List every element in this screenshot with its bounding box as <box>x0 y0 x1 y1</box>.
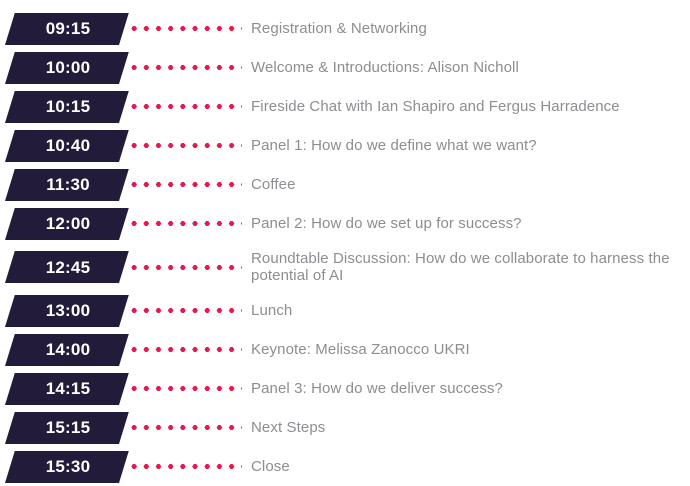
session-description: Roundtable Discussion: How do we collabo… <box>251 250 690 284</box>
time-badge: 10:40 <box>5 130 119 162</box>
agenda-row: 10:40 Panel 1: How do we define what we … <box>0 126 690 165</box>
agenda-row: 10:00 Welcome & Introductions: Alison Ni… <box>0 48 690 87</box>
session-description: Welcome & Introductions: Alison Nicholl <box>251 59 690 76</box>
session-description: Next Steps <box>251 419 690 436</box>
time-label: 10:00 <box>34 59 90 76</box>
time-label: 14:00 <box>34 341 90 358</box>
time-badge: 15:30 <box>5 451 119 483</box>
dotted-leader <box>128 265 242 270</box>
time-label: 09:15 <box>34 20 90 37</box>
agenda-row: 13:00 Lunch <box>0 291 690 330</box>
dotted-leader <box>128 347 242 352</box>
time-badge: 14:15 <box>5 373 119 405</box>
dotted-leader <box>128 464 242 469</box>
agenda-row: 10:15 Fireside Chat with Ian Shapiro and… <box>0 87 690 126</box>
dotted-leader <box>128 104 242 109</box>
session-description: Coffee <box>251 176 690 193</box>
time-label: 12:45 <box>34 259 90 276</box>
time-badge: 11:30 <box>5 169 119 201</box>
dotted-leader <box>128 308 242 313</box>
dotted-leader <box>128 26 242 31</box>
agenda-row: 09:15 Registration & Networking <box>0 9 690 48</box>
session-description: Registration & Networking <box>251 20 690 37</box>
session-description: Panel 2: How do we set up for success? <box>251 215 690 232</box>
time-label: 12:00 <box>34 215 90 232</box>
agenda-row: 12:45 Roundtable Discussion: How do we c… <box>0 243 690 291</box>
time-label: 10:15 <box>34 98 90 115</box>
time-badge: 10:15 <box>5 91 119 123</box>
session-description: Fireside Chat with Ian Shapiro and Fergu… <box>251 98 690 115</box>
dotted-leader <box>128 182 242 187</box>
session-description: Lunch <box>251 302 690 319</box>
agenda-row: 15:15 Next Steps <box>0 408 690 447</box>
time-badge: 09:15 <box>5 13 119 45</box>
dotted-leader <box>128 425 242 430</box>
agenda-row: 14:00 Keynote: Melissa Zanocco UKRI <box>0 330 690 369</box>
dotted-leader <box>128 65 242 70</box>
agenda-row: 15:30 Close <box>0 447 690 486</box>
time-label: 15:30 <box>34 458 90 475</box>
agenda-schedule: 09:15 Registration & Networking 10:00 We… <box>0 0 690 486</box>
dotted-leader <box>128 143 242 148</box>
time-label: 11:30 <box>34 176 90 193</box>
agenda-row: 14:15 Panel 3: How do we deliver success… <box>0 369 690 408</box>
time-badge: 15:15 <box>5 412 119 444</box>
time-label: 10:40 <box>34 137 90 154</box>
agenda-row: 11:30 Coffee <box>0 165 690 204</box>
time-label: 15:15 <box>34 419 90 436</box>
session-description: Panel 3: How do we deliver success? <box>251 380 690 397</box>
time-badge: 14:00 <box>5 334 119 366</box>
dotted-leader <box>128 221 242 226</box>
time-badge: 12:00 <box>5 208 119 240</box>
session-description: Keynote: Melissa Zanocco UKRI <box>251 341 690 358</box>
agenda-row: 12:00 Panel 2: How do we set up for succ… <box>0 204 690 243</box>
session-description: Close <box>251 458 690 475</box>
session-description: Panel 1: How do we define what we want? <box>251 137 690 154</box>
time-badge: 13:00 <box>5 295 119 327</box>
time-badge: 12:45 <box>5 251 119 283</box>
time-label: 13:00 <box>34 302 90 319</box>
time-label: 14:15 <box>34 380 90 397</box>
dotted-leader <box>128 386 242 391</box>
time-badge: 10:00 <box>5 52 119 84</box>
